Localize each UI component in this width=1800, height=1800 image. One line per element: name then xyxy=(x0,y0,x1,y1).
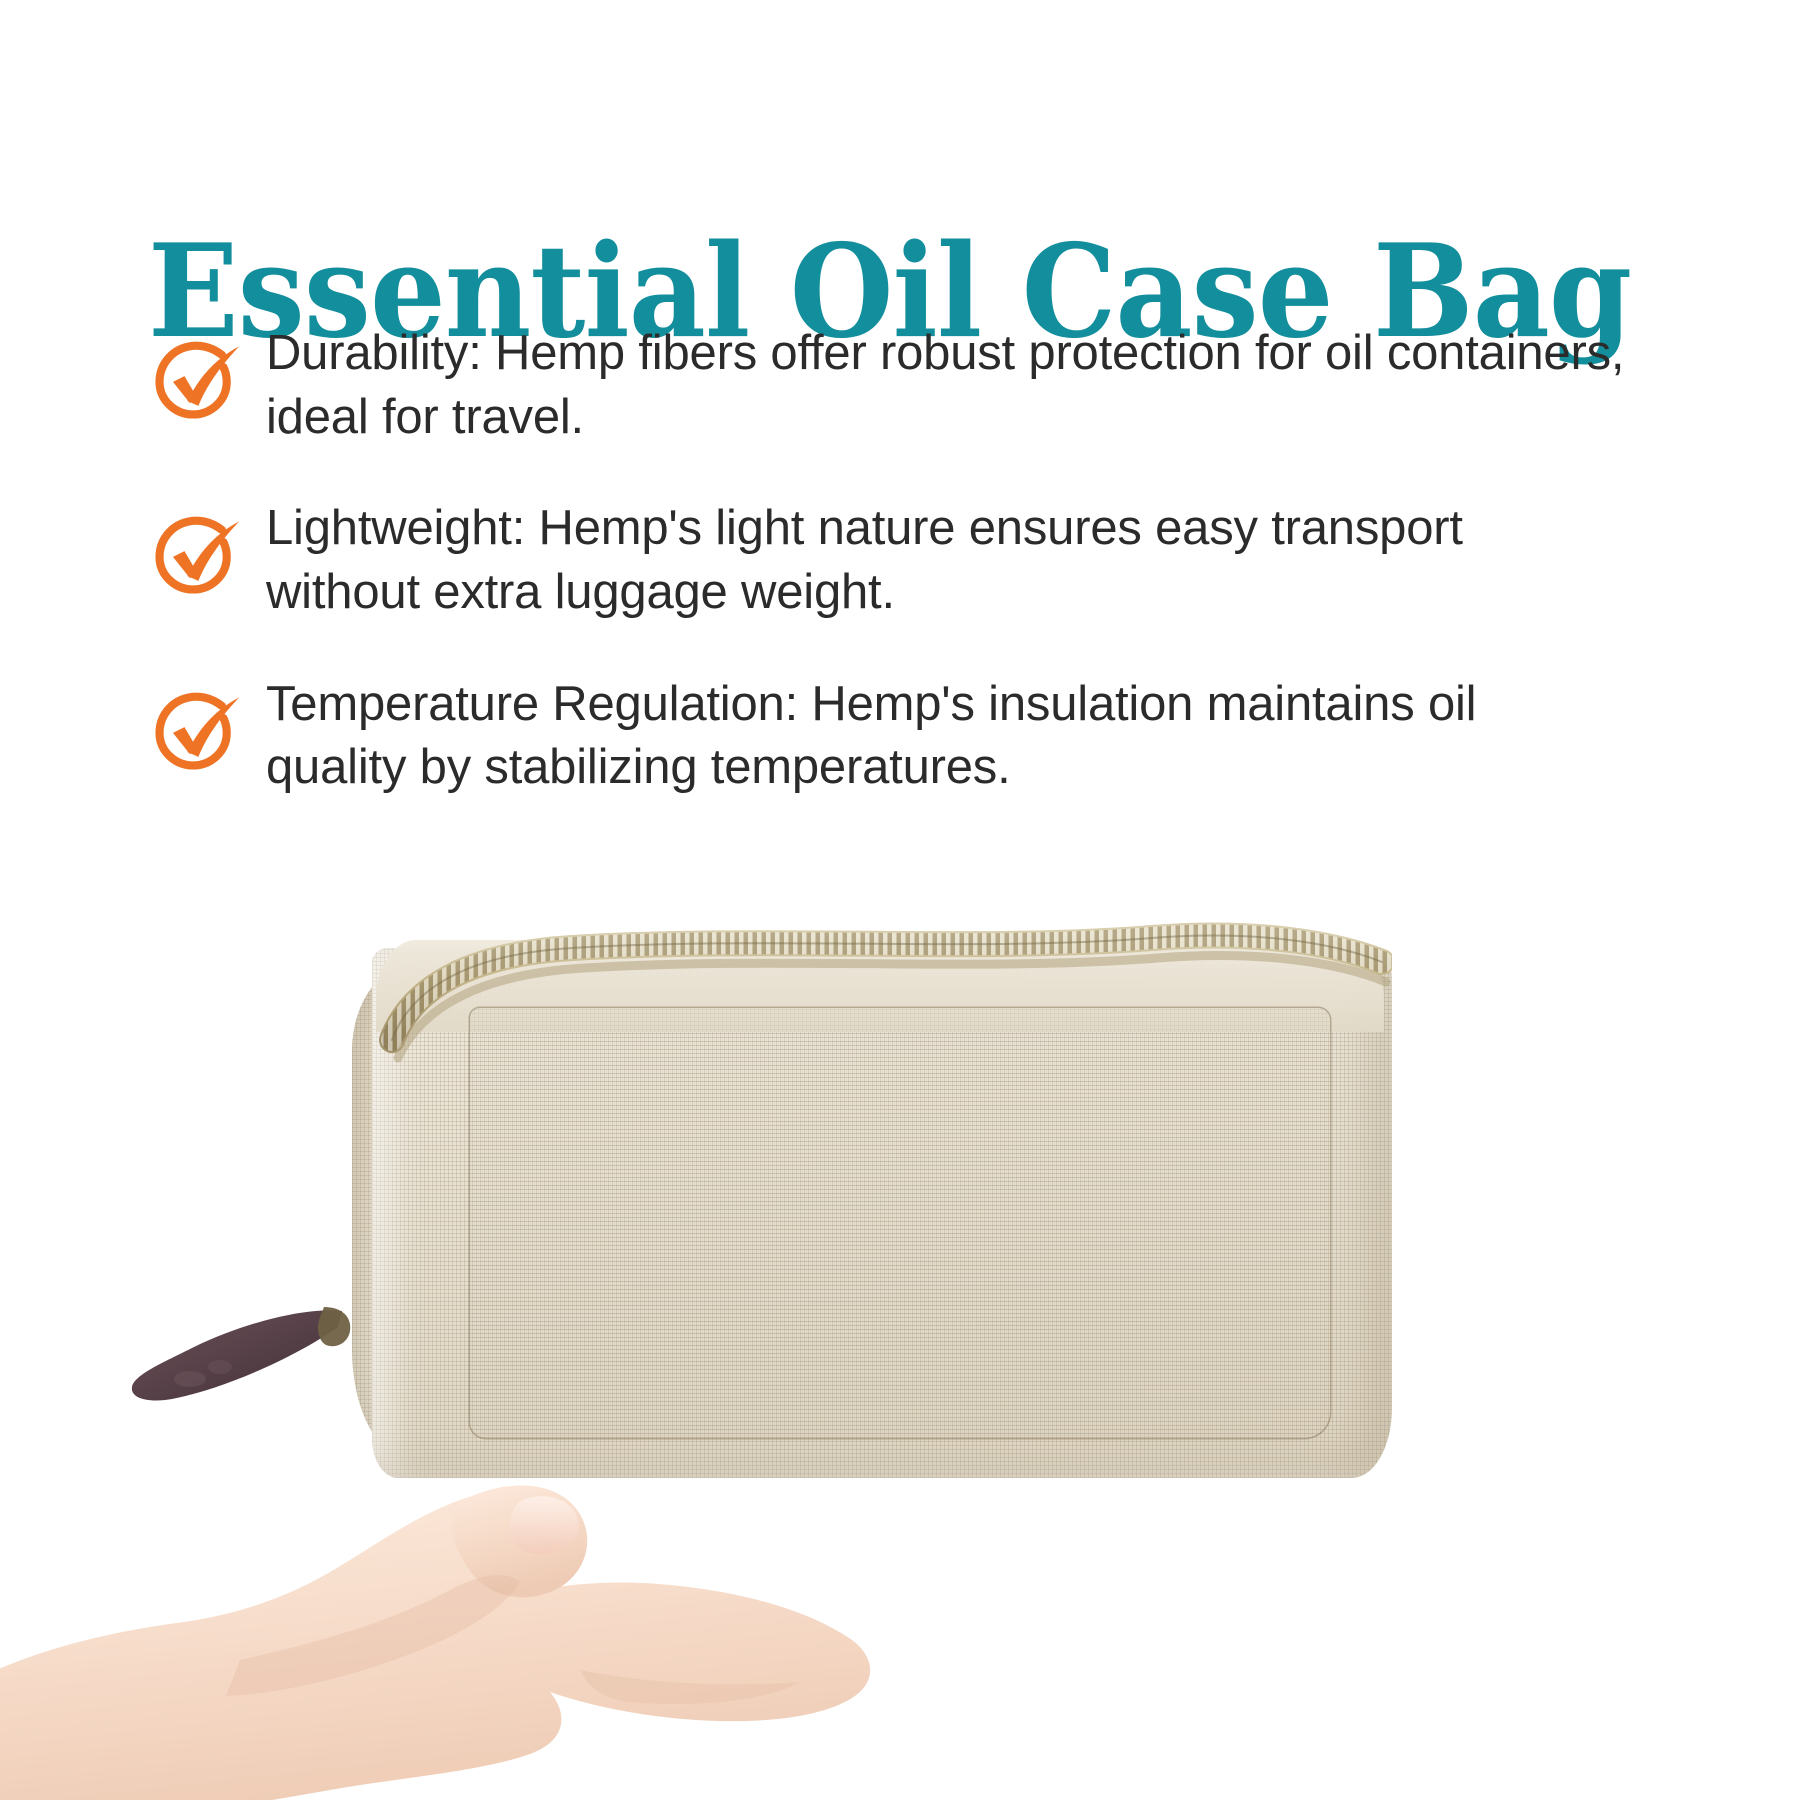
feature-list: Durability: Hemp fibers offer robust pro… xyxy=(148,318,1628,844)
check-circle-icon xyxy=(148,681,244,777)
hand-holding-bag xyxy=(0,1230,980,1800)
list-item: Temperature Regulation: Hemp's insulatio… xyxy=(148,669,1628,800)
feature-text: Lightweight: Hemp's light nature ensures… xyxy=(266,493,1628,624)
product-photo xyxy=(0,830,1800,1800)
list-item: Lightweight: Hemp's light nature ensures… xyxy=(148,493,1628,624)
feature-text: Durability: Hemp fibers offer robust pro… xyxy=(266,318,1628,449)
check-circle-icon xyxy=(148,505,244,601)
zipper xyxy=(352,890,1392,1070)
feature-text: Temperature Regulation: Hemp's insulatio… xyxy=(266,669,1628,800)
check-circle-icon xyxy=(148,330,244,426)
hemp-case-bag xyxy=(0,830,1800,1800)
poster-canvas: Essential Oil Case Bag Durability: Hemp … xyxy=(0,0,1800,1800)
list-item: Durability: Hemp fibers offer robust pro… xyxy=(148,318,1628,449)
